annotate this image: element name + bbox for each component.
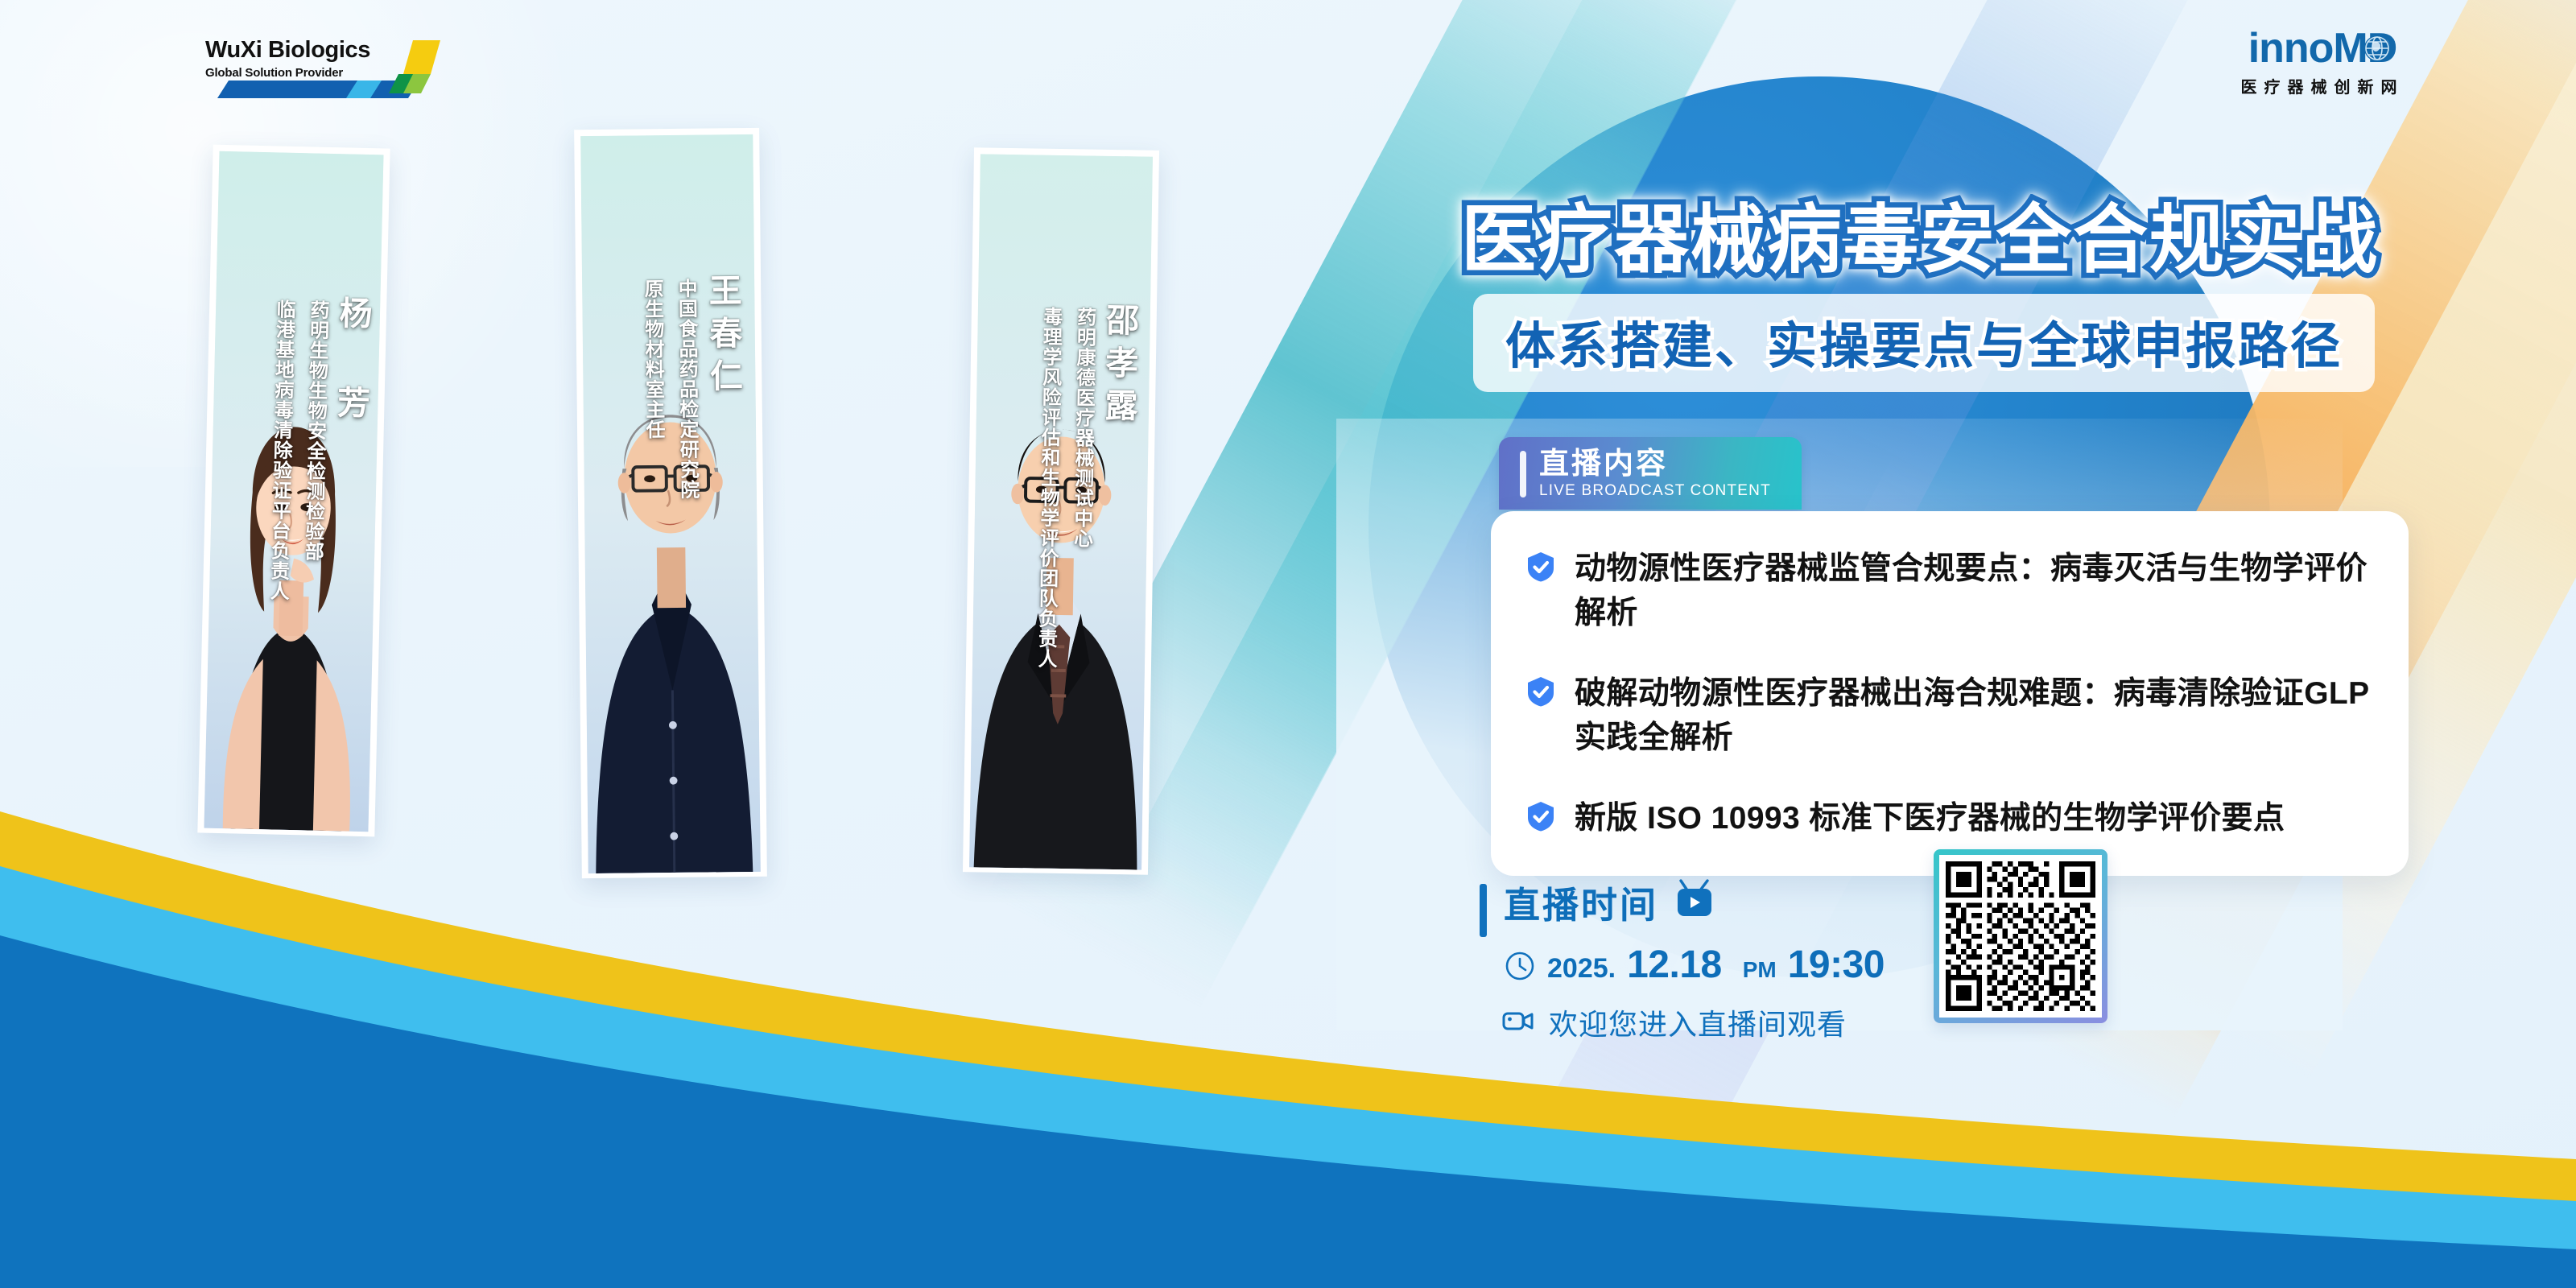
broadcast-meridiem: PM — [1743, 957, 1777, 983]
speaker-card-2: 王春仁 中国食品药品检定研究院 原生物材料室主任 — [574, 128, 767, 878]
subtitle-container: 体系搭建、实操要点与全球申报路径 — [1473, 294, 2375, 392]
qr-code-pattern — [1946, 861, 2095, 1011]
speaker-card-1: 杨 芳 药明生物生物安全检测检验部 临港基地病毒清除验证平台负责人 — [197, 145, 390, 837]
speaker-photo-3: 邵孝露 药明康德医疗器械测试中心 毒理学风险评估和生物学评价团队负责人 — [969, 154, 1153, 869]
webinar-banner: WuXi Biologics Global Solution Provider … — [0, 0, 2576, 1288]
speaker-photo-2: 王春仁 中国食品药品检定研究院 原生物材料室主任 — [580, 134, 761, 873]
qr-code[interactable] — [1934, 849, 2107, 1023]
list-item: 动物源性医疗器械监管合规要点：病毒灭活与生物学评价解析 — [1525, 547, 2370, 636]
page-title: 医疗器械病毒安全合规实战 — [1461, 179, 2379, 287]
speaker-gallery: 杨 芳 药明生物生物安全检测检验部 临港基地病毒清除验证平台负责人 — [0, 0, 1385, 950]
speaker-3-org: 药明康德医疗器械测试中心 — [1071, 307, 1094, 548]
speaker-1-name: 杨 芳 — [333, 295, 369, 428]
list-item-text: 新版 ISO 10993 标准下医疗器械的生物学评价要点 — [1575, 796, 2285, 840]
content-list-card: 动物源性医疗器械监管合规要点：病毒灭活与生物学评价解析 破解动物源性医疗器械出海… — [1491, 511, 2409, 876]
badge-label-en: LIVE BROADCAST CONTENT — [1539, 482, 1771, 500]
page-subtitle: 体系搭建、实操要点与全球申报路径 — [1505, 305, 2343, 378]
speaker-photo-1: 杨 芳 药明生物生物安全检测检验部 临港基地病毒清除验证平台负责人 — [204, 151, 383, 832]
time-accent-bar — [1480, 884, 1487, 937]
check-badge-icon — [1525, 551, 1557, 587]
list-item-text: 动物源性医疗器械监管合规要点：病毒灭活与生物学评价解析 — [1575, 547, 2370, 636]
tv-play-icon — [1673, 879, 1716, 925]
speaker-2-name: 王春仁 — [705, 273, 740, 401]
broadcast-date: 12.18 — [1627, 943, 1722, 987]
portrait-illustration-2 — [580, 134, 761, 873]
badge-accent-bar — [1520, 451, 1526, 497]
broadcast-clock: 19:30 — [1788, 943, 1885, 987]
check-badge-icon — [1525, 800, 1557, 836]
broadcast-time-label: 直播时间 — [1504, 876, 1658, 928]
speaker-2-role: 原生物材料室主任 — [642, 279, 663, 440]
portrait-illustration-1 — [204, 151, 383, 832]
broadcast-year: 2025. — [1547, 953, 1616, 985]
check-badge-icon — [1525, 675, 1557, 712]
right-content-column: 医疗器械病毒安全合规实战 体系搭建、实操要点与全球申报路径 直播内容 LIVE … — [1441, 0, 2576, 1288]
list-item: 新版 ISO 10993 标准下医疗器械的生物学评价要点 — [1525, 796, 2370, 840]
speaker-3-name: 邵孝露 — [1101, 303, 1136, 431]
video-camera-icon — [1502, 1008, 1536, 1038]
badge-label-cn: 直播内容 — [1539, 448, 1771, 480]
speaker-2-org: 中国食品药品检定研究院 — [675, 279, 697, 500]
qr-code-inner — [1939, 855, 2102, 1018]
speaker-card-3: 邵孝露 药明康德医疗器械测试中心 毒理学风险评估和生物学评价团队负责人 — [963, 147, 1159, 875]
portrait-illustration-3 — [969, 154, 1153, 869]
list-item-text: 破解动物源性医疗器械出海合规难题：病毒清除验证GLP实践全解析 — [1575, 671, 2370, 761]
broadcast-invite-text: 欢迎您进入直播间观看 — [1549, 1001, 1847, 1043]
speaker-1-org: 药明生物生物安全检测检验部 — [302, 299, 327, 561]
speaker-3-role: 毒理学风险评估和生物学评价团队负责人 — [1035, 307, 1060, 669]
clock-icon — [1504, 950, 1536, 982]
list-item: 破解动物源性医疗器械出海合规难题：病毒清除验证GLP实践全解析 — [1525, 671, 2370, 761]
live-content-badge: 直播内容 LIVE BROADCAST CONTENT — [1499, 437, 1802, 510]
